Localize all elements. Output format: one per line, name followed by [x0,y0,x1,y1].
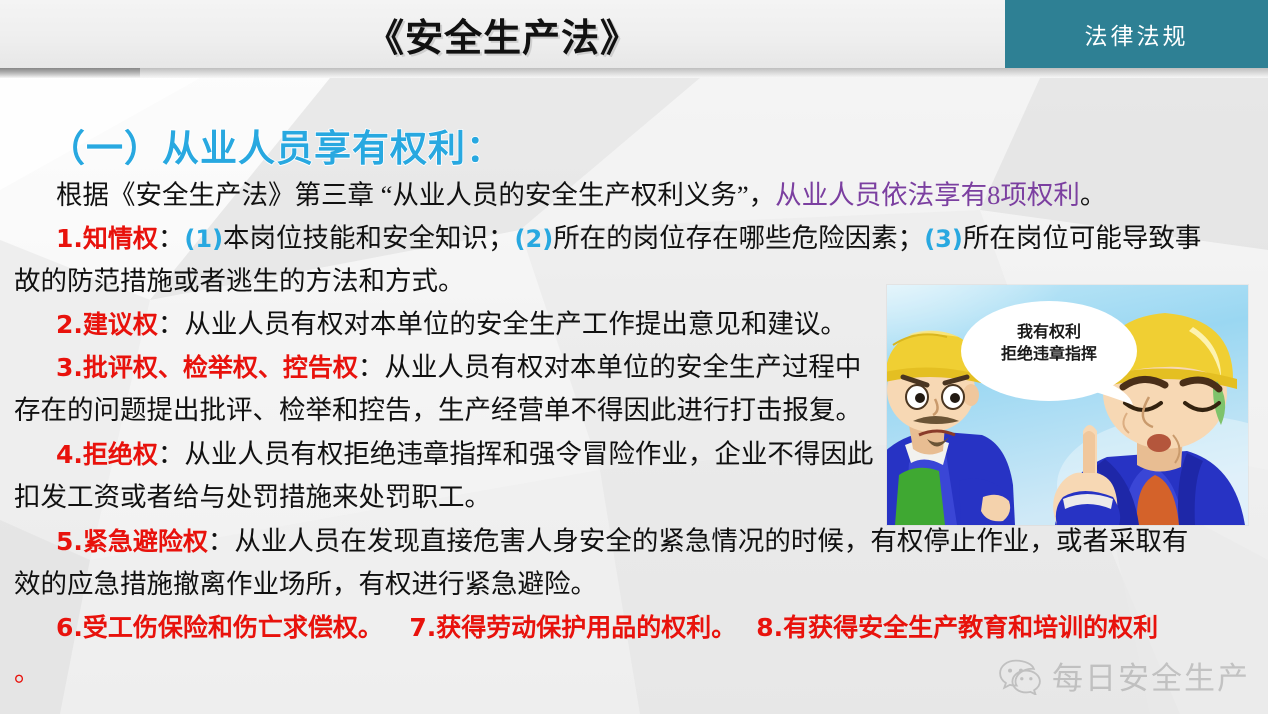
watermark: 每日安全生产 [998,653,1250,698]
right-items-6-7-8: 6.受工伤保险和伤亡求偿权。 7.获得劳动保护用品的权利。 8.有获得安全生产教… [14,606,1246,649]
right-item-3-wrap: 存在的问题提出批评、检举和控告，生产经营单不得因此进行打击报复。 [14,389,884,432]
item-7-label: 7.获得劳动保护用品的权利。 [409,613,736,642]
item-1-text-1: 本岗位技能和安全知识； [223,223,515,253]
illustration-two-workers: 我有权利 拒绝违章指挥 [887,285,1248,525]
item-1-text-2: 所在的岗位存在哪些危险因素； [553,223,924,253]
item-5-label: 5.紧急避险权 [56,527,208,556]
section-heading: （一）从业人员享有权利： [48,118,504,172]
item-3-label: 3.批评权、检举权、控告权 [56,353,358,382]
right-item-5: 5.紧急避险权：从业人员在发现直接危害人身安全的紧急情况的时候，有权停止作业，或… [14,520,1254,563]
item-2-colon: ： [158,309,185,339]
item-4-colon: ： [158,439,185,469]
intro-paragraph: 根据《安全生产法》第三章 “从业人员的安全生产权利义务”，从业人员依法享有8项权… [14,174,1254,217]
intro-period: 。 [1080,180,1107,210]
trailing-period: 。 [14,652,40,689]
right-item-4-wrap: 扣发工资或者给与处罚措施来处罚职工。 [14,476,884,519]
intro-text: 根据《安全生产法》第三章 “从业人员的安全生产权利义务”， [56,180,775,210]
slide-header: 《安全生产法》 法律法规 [0,0,1268,68]
right-item-3: 3.批评权、检举权、控告权：从业人员有权对本单位的安全生产过程中 [14,346,916,389]
speech-bubble-line-2: 拒绝违章指挥 [985,343,1113,365]
item-1-colon: ： [158,223,185,253]
slide-root: 《安全生产法》 法律法规 （一）从业人员享有权利： 根据《安全生产法》第三章 “… [0,0,1268,714]
item-8-label: 8.有获得安全生产教育和培训的权利 [756,613,1158,642]
page-title: 《安全生产法》 [0,0,1005,68]
item-6-label: 6.受工伤保险和伤亡求偿权。 [56,613,383,642]
header-shadow-divider [0,68,1268,78]
item-1-num-3: (3) [924,225,963,253]
item-4-text: 从业人员有权拒绝违章指挥和强令冒险作业，企业不得因此 [184,439,873,469]
item-1-text-3: 所在岗位可能导致事 [963,223,1202,253]
item-1-num-1: (1) [184,225,223,253]
category-badge: 法律法规 [1005,0,1268,68]
item-1-label: 1.知情权 [56,224,158,253]
speech-bubble-text: 我有权利 拒绝违章指挥 [985,321,1113,365]
item-5-colon: ： [208,526,235,556]
right-item-4: 4.拒绝权：从业人员有权拒绝违章指挥和强令冒险作业，企业不得因此 [14,433,916,476]
slide-body: （一）从业人员享有权利： 根据《安全生产法》第三章 “从业人员的安全生产权利义务… [0,78,1268,714]
intro-highlight: 从业人员依法享有8项权利 [775,180,1080,210]
item-2-label: 2.建议权 [56,310,158,339]
item-4-label: 4.拒绝权 [56,440,158,469]
item-3-colon: ： [358,352,385,382]
item-2-text: 从业人员有权对本单位的安全生产工作提出意见和建议。 [184,309,847,339]
watermark-text: 每日安全生产 [1052,653,1250,698]
speech-bubble-line-1: 我有权利 [985,321,1113,343]
right-item-1: 1.知情权：(1)本岗位技能和安全知识；(2)所在的岗位存在哪些危险因素；(3)… [14,217,1254,261]
right-item-5-wrap: 效的应急措施撤离作业场所，有权进行紧急避险。 [14,563,1254,606]
item-1-num-2: (2) [515,225,554,253]
item-3-text: 从业人员有权对本单位的安全生产过程中 [384,352,861,382]
wechat-icon [998,657,1042,695]
item-5-text: 从业人员在发现直接危害人身安全的紧急情况的时候，有权停止作业，或者采取有 [234,526,1188,556]
